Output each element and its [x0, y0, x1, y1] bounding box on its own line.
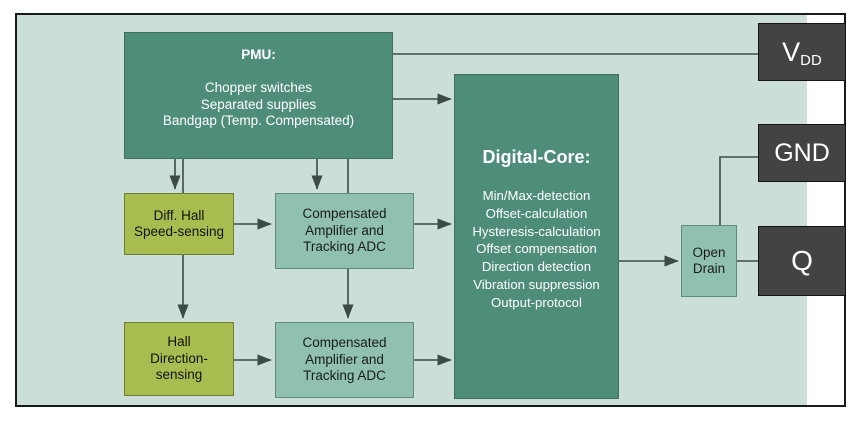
pmu-title: PMU:	[241, 47, 276, 63]
open-drain-line-2: Drain	[693, 261, 725, 277]
amplifier-bottom-line-1: Compensated	[302, 335, 386, 351]
pad-q[interactable]: Q	[758, 226, 846, 296]
pad-vdd[interactable]: VDD	[758, 23, 846, 81]
hall-direction-line-1: Hall	[167, 334, 190, 350]
amplifier-top-line-3: Tracking ADC	[303, 239, 386, 255]
hall-direction-line-2: Direction-	[150, 351, 208, 367]
digital-core-line-2: Offset-calculation	[472, 205, 600, 223]
vdd-subscript: DD	[800, 53, 822, 69]
vdd-label: VDD	[782, 36, 822, 69]
block-hall-speed-sensing[interactable]: Diff. Hall Speed-sensing	[124, 193, 234, 255]
digital-core-line-7: Output-protocol	[472, 294, 600, 312]
open-drain-line-1: Open	[692, 245, 725, 261]
pmu-line-1: Chopper switches	[163, 80, 354, 96]
digital-core-line-5: Direction detection	[472, 258, 600, 276]
hall-speed-line-1: Diff. Hall	[154, 208, 205, 224]
block-amplifier-top[interactable]: Compensated Amplifier and Tracking ADC	[275, 193, 414, 269]
pad-gnd[interactable]: GND	[758, 124, 846, 182]
q-label: Q	[791, 244, 813, 278]
hall-speed-line-2: Speed-sensing	[134, 224, 224, 240]
gnd-label: GND	[774, 138, 830, 169]
amplifier-top-line-1: Compensated	[302, 206, 386, 222]
pmu-line-3: Bandgap (Temp. Compensated)	[163, 113, 354, 129]
block-pmu[interactable]: PMU: Chopper switches Separated supplies…	[124, 32, 393, 159]
amplifier-bottom-line-3: Tracking ADC	[303, 368, 386, 384]
block-digital-core[interactable]: Digital-Core: Min/Max-detection Offset-c…	[454, 74, 619, 399]
digital-core-line-1: Min/Max-detection	[472, 187, 600, 205]
hall-direction-line-3: sensing	[156, 367, 203, 383]
digital-core-line-3: Hysteresis-calculation	[472, 223, 600, 241]
amplifier-top-line-2: Amplifier and	[305, 223, 384, 239]
digital-core-line-6: Vibration suppression	[472, 276, 600, 294]
pmu-line-2: Separated supplies	[163, 97, 354, 113]
block-amplifier-bottom[interactable]: Compensated Amplifier and Tracking ADC	[275, 322, 414, 398]
digital-core-body: Min/Max-detection Offset-calculation Hys…	[472, 187, 600, 312]
block-hall-direction-sensing[interactable]: Hall Direction- sensing	[124, 322, 234, 396]
amplifier-bottom-line-2: Amplifier and	[305, 352, 384, 368]
vdd-letter: V	[782, 37, 800, 67]
block-diagram-figure: PMU: Chopper switches Separated supplies…	[15, 13, 846, 407]
block-open-drain[interactable]: Open Drain	[681, 225, 737, 297]
pmu-body: Chopper switches Separated supplies Band…	[163, 80, 354, 129]
digital-core-line-4: Offset compensation	[472, 240, 600, 258]
digital-core-title: Digital-Core:	[483, 147, 591, 169]
